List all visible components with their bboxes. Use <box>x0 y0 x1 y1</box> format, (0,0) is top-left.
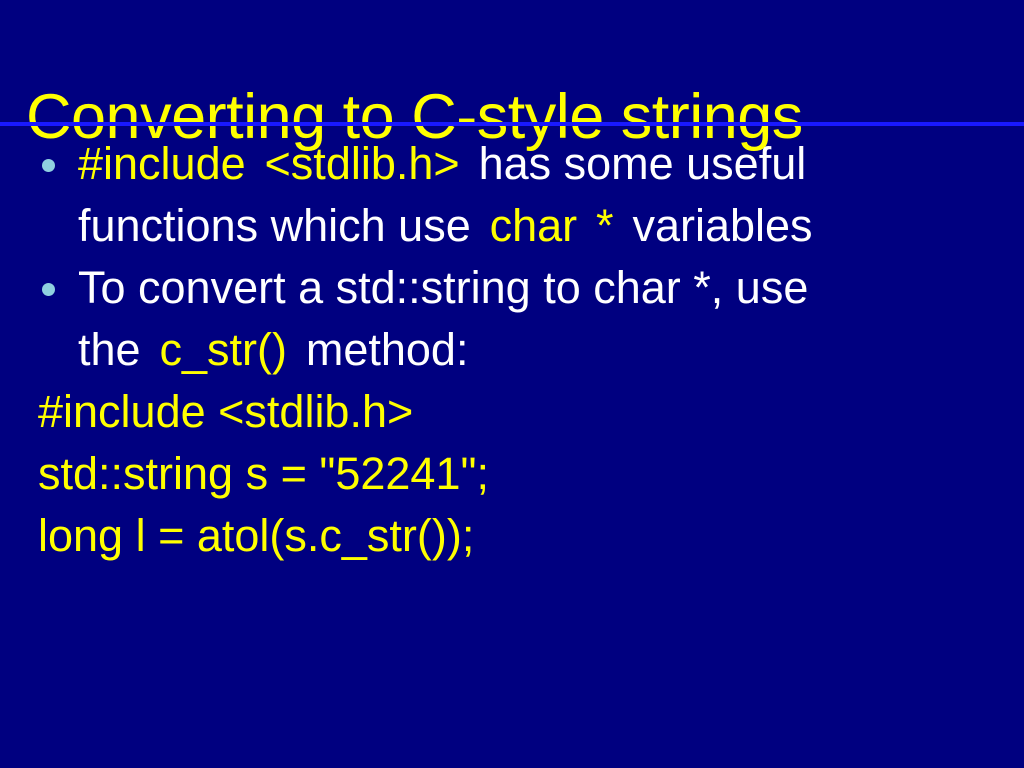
text-spacer <box>471 195 490 257</box>
text-spacer <box>460 133 479 195</box>
body-text: variables <box>632 200 812 251</box>
bullet-item-2-continuation: the c_str() method: <box>0 319 1024 381</box>
title-separator-rule <box>0 122 1024 126</box>
text-spacer <box>287 319 306 381</box>
text-spacer <box>614 195 633 257</box>
bullet-item-1: #include <stdlib.h> has some useful <box>0 133 1024 195</box>
code-line-1: #include <stdlib.h> <box>0 381 1024 443</box>
slide: Converting to C-style strings #include <… <box>0 0 1024 768</box>
code-token: * <box>596 200 614 251</box>
code-token: #include <box>78 138 246 189</box>
text-spacer <box>141 319 160 381</box>
text-spacer <box>246 133 265 195</box>
body-text: method: <box>306 324 469 375</box>
text-spacer <box>577 195 596 257</box>
bullet-item-1-continuation: functions which use char * variables <box>0 195 1024 257</box>
bullet-dot-icon <box>42 159 55 172</box>
body-text: functions which use <box>78 200 471 251</box>
code-line-3: long l = atol(s.c_str()); <box>0 505 1024 567</box>
code-token: char <box>490 200 578 251</box>
code-token: <stdlib.h> <box>265 138 460 189</box>
body-text: the <box>78 324 141 375</box>
slide-body: #include <stdlib.h> has some usefulfunct… <box>0 133 1024 593</box>
body-text: To convert a std::string to char *, use <box>78 262 808 313</box>
bullet-item-2: To convert a std::string to char *, use <box>0 257 1024 319</box>
code-token: c_str() <box>159 324 287 375</box>
bullet-dot-icon <box>42 283 55 296</box>
code-line-2: std::string s = "52241"; <box>0 443 1024 505</box>
body-text: has some useful <box>479 138 807 189</box>
